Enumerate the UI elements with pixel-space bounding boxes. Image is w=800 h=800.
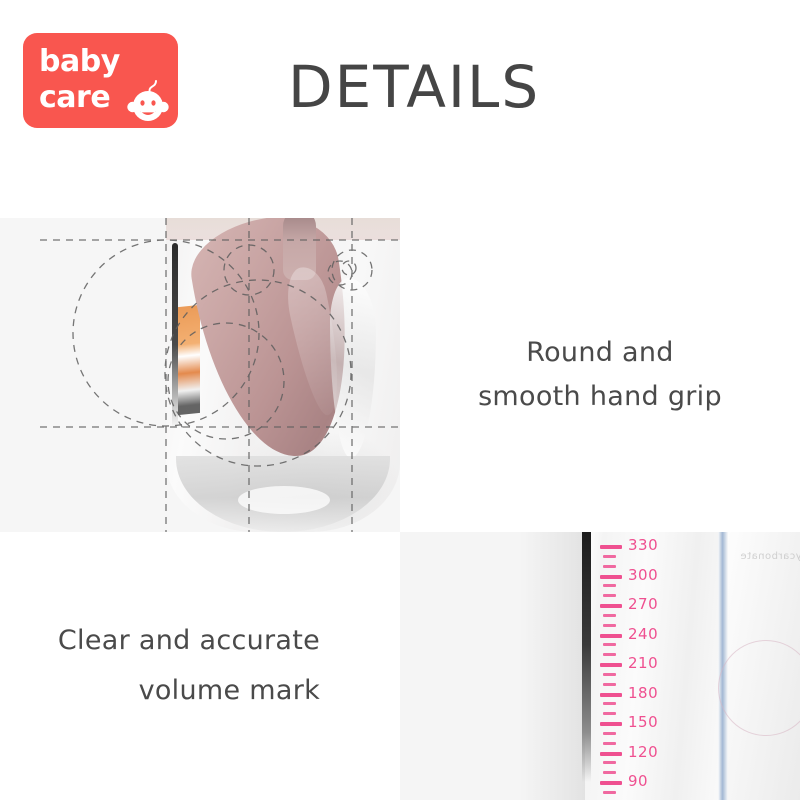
volume-tick-major [600, 634, 622, 638]
volume-tick-minor [603, 742, 616, 745]
volume-tick-minor [603, 624, 616, 627]
volume-mark-label: 180 [628, 684, 658, 702]
golden-ratio-overlay [0, 218, 400, 532]
volume-tick-major [600, 752, 622, 756]
guide-circle-large-2 [165, 280, 351, 466]
volume-mark-label: 210 [628, 654, 658, 672]
caption-line-1: Clear and accurate [58, 616, 320, 666]
volume-tick-minor [603, 683, 616, 686]
volume-tick-major [600, 781, 622, 785]
babycare-logo[interactable]: baby care [23, 33, 178, 128]
volume-tick-minor [603, 643, 616, 646]
volume-tick-minor [603, 653, 616, 656]
volume-mark-label: 150 [628, 713, 658, 731]
details-page: baby care DETAILS [0, 0, 800, 800]
volume-tick-minor [603, 584, 616, 587]
guide-circle-large [73, 240, 259, 426]
volume-tick-minor [603, 761, 616, 764]
volume-scale: 33030027024021018015012090 [400, 532, 800, 800]
volume-caption: Clear and accurate volume mark [58, 616, 342, 716]
hand-grip-caption-block: Round and smooth hand grip [400, 218, 800, 532]
baby-face-icon [123, 78, 173, 124]
volume-mark-product-image: polycarbonate 33030027024021018015012090 [400, 532, 800, 800]
volume-tick-minor [603, 594, 616, 597]
volume-tick-minor [603, 732, 616, 735]
caption-line-1: Round and [478, 331, 722, 375]
volume-tick-major [600, 693, 622, 697]
volume-tick-minor [603, 771, 616, 774]
logo-line-baby: baby [39, 44, 120, 80]
volume-mark-label: 120 [628, 743, 658, 761]
volume-tick-major [600, 722, 622, 726]
volume-caption-block: Clear and accurate volume mark [0, 532, 400, 800]
volume-tick-major [600, 604, 622, 608]
volume-mark-label: 240 [628, 625, 658, 643]
volume-mark-label: 270 [628, 595, 658, 613]
guide-circle-medium [168, 323, 284, 439]
volume-tick-minor [603, 702, 616, 705]
page-title: DETAILS [288, 54, 548, 120]
volume-tick-minor [603, 791, 616, 794]
volume-tick-minor [603, 555, 616, 558]
volume-mark-label: 330 [628, 536, 658, 554]
volume-mark-label: 90 [628, 772, 648, 790]
volume-tick-minor [603, 614, 616, 617]
section-clear-accurate-volume-mark: Clear and accurate volume mark polycarbo… [0, 532, 800, 800]
hand-grip-caption: Round and smooth hand grip [478, 331, 722, 419]
guide-circle-tiny-2 [342, 261, 356, 275]
caption-line-2: volume mark [58, 666, 320, 716]
volume-tick-major [600, 663, 622, 667]
caption-line-2: smooth hand grip [478, 375, 722, 419]
volume-tick-major [600, 575, 622, 579]
logo-line-care: care [39, 80, 120, 116]
guide-circle-tiny-1 [328, 261, 352, 285]
page-header: baby care DETAILS [0, 0, 800, 218]
section-round-smooth-hand-grip: Round and smooth hand grip [0, 218, 800, 532]
volume-tick-minor [603, 712, 616, 715]
hand-grip-product-image [0, 218, 400, 532]
volume-mark-label: 300 [628, 566, 658, 584]
volume-tick-minor [603, 673, 616, 676]
volume-tick-minor [603, 565, 616, 568]
volume-tick-major [600, 545, 622, 549]
logo-wordmark: baby care [39, 44, 120, 116]
